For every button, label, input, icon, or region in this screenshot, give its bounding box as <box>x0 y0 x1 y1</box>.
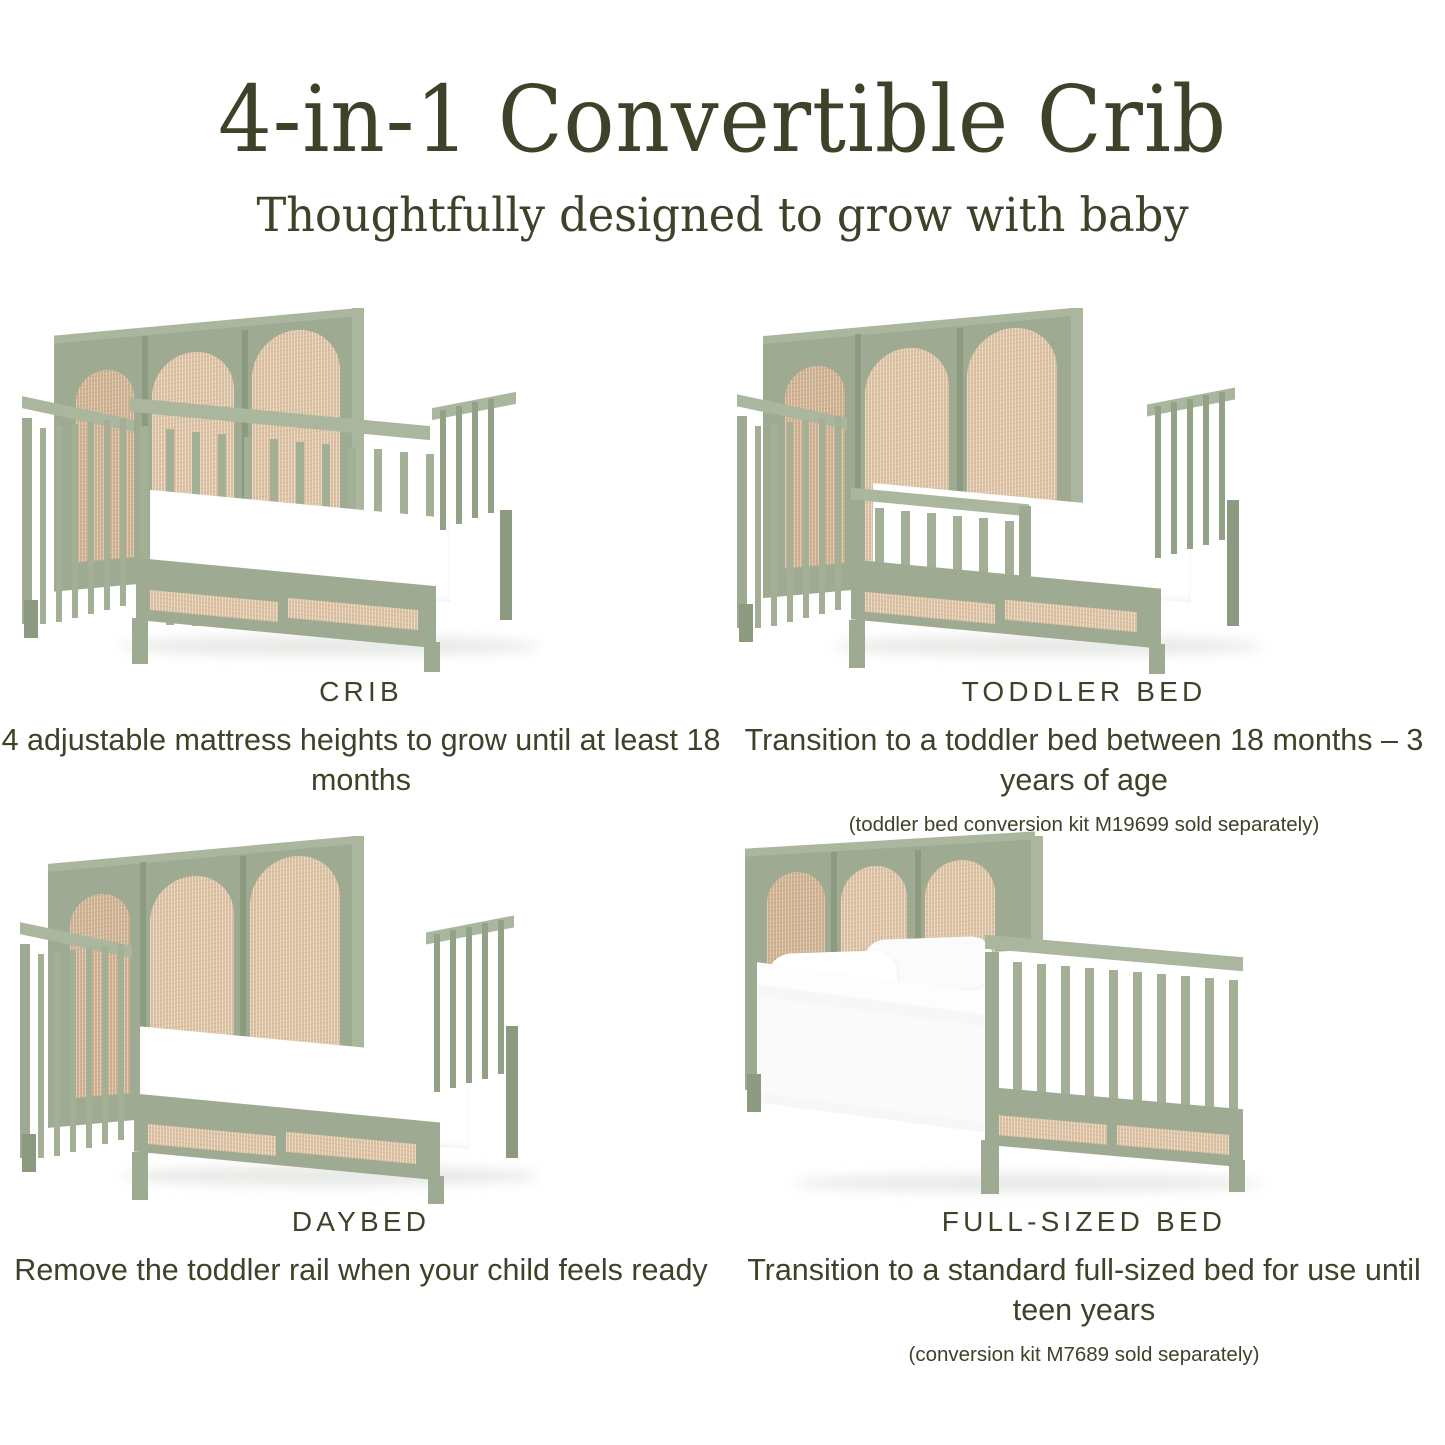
toddler-bed-illustration <box>723 300 1445 670</box>
crib-illustration <box>0 300 722 670</box>
header: 4-in-1 Convertible Crib Thoughtfully des… <box>0 0 1445 239</box>
mode-description-daybed: Remove the toddler rail when your child … <box>0 1251 722 1291</box>
caption-toddler-bed: TODDLER BED Transition to a toddler bed … <box>723 676 1445 839</box>
mode-description-crib: 4 adjustable mattress heights to grow un… <box>0 721 722 800</box>
caption-daybed: DAYBED Remove the toddler rail when your… <box>0 1206 722 1291</box>
caption-full-sized-bed: FULL-SIZED BED Transition to a standard … <box>723 1206 1445 1369</box>
mode-description-toddler-bed: Transition to a toddler bed between 18 m… <box>723 721 1445 800</box>
infographic-page: 4-in-1 Convertible Crib Thoughtfully des… <box>0 0 1445 1445</box>
mode-description-full-sized-bed: Transition to a standard full-sized bed … <box>723 1251 1445 1330</box>
mode-card-daybed: DAYBED Remove the toddler rail when your… <box>0 830 722 1291</box>
mode-label-full-sized-bed: FULL-SIZED BED <box>723 1206 1445 1238</box>
mode-label-toddler-bed: TODDLER BED <box>723 676 1445 708</box>
mode-label-daybed: DAYBED <box>0 1206 722 1238</box>
full-sized-bed-illustration <box>723 830 1445 1200</box>
mode-card-toddler-bed: TODDLER BED Transition to a toddler bed … <box>723 300 1445 839</box>
mode-note-full-sized-bed: (conversion kit M7689 sold separately) <box>723 1342 1445 1369</box>
daybed-illustration <box>0 830 722 1200</box>
caption-crib: CRIB 4 adjustable mattress heights to gr… <box>0 676 722 800</box>
mode-card-crib: CRIB 4 adjustable mattress heights to gr… <box>0 300 722 800</box>
mode-label-crib: CRIB <box>0 676 722 708</box>
page-subtitle: Thoughtfully designed to grow with baby <box>36 192 1409 239</box>
page-title: 4-in-1 Convertible Crib <box>58 74 1387 166</box>
mode-card-full-sized-bed: FULL-SIZED BED Transition to a standard … <box>723 830 1445 1369</box>
